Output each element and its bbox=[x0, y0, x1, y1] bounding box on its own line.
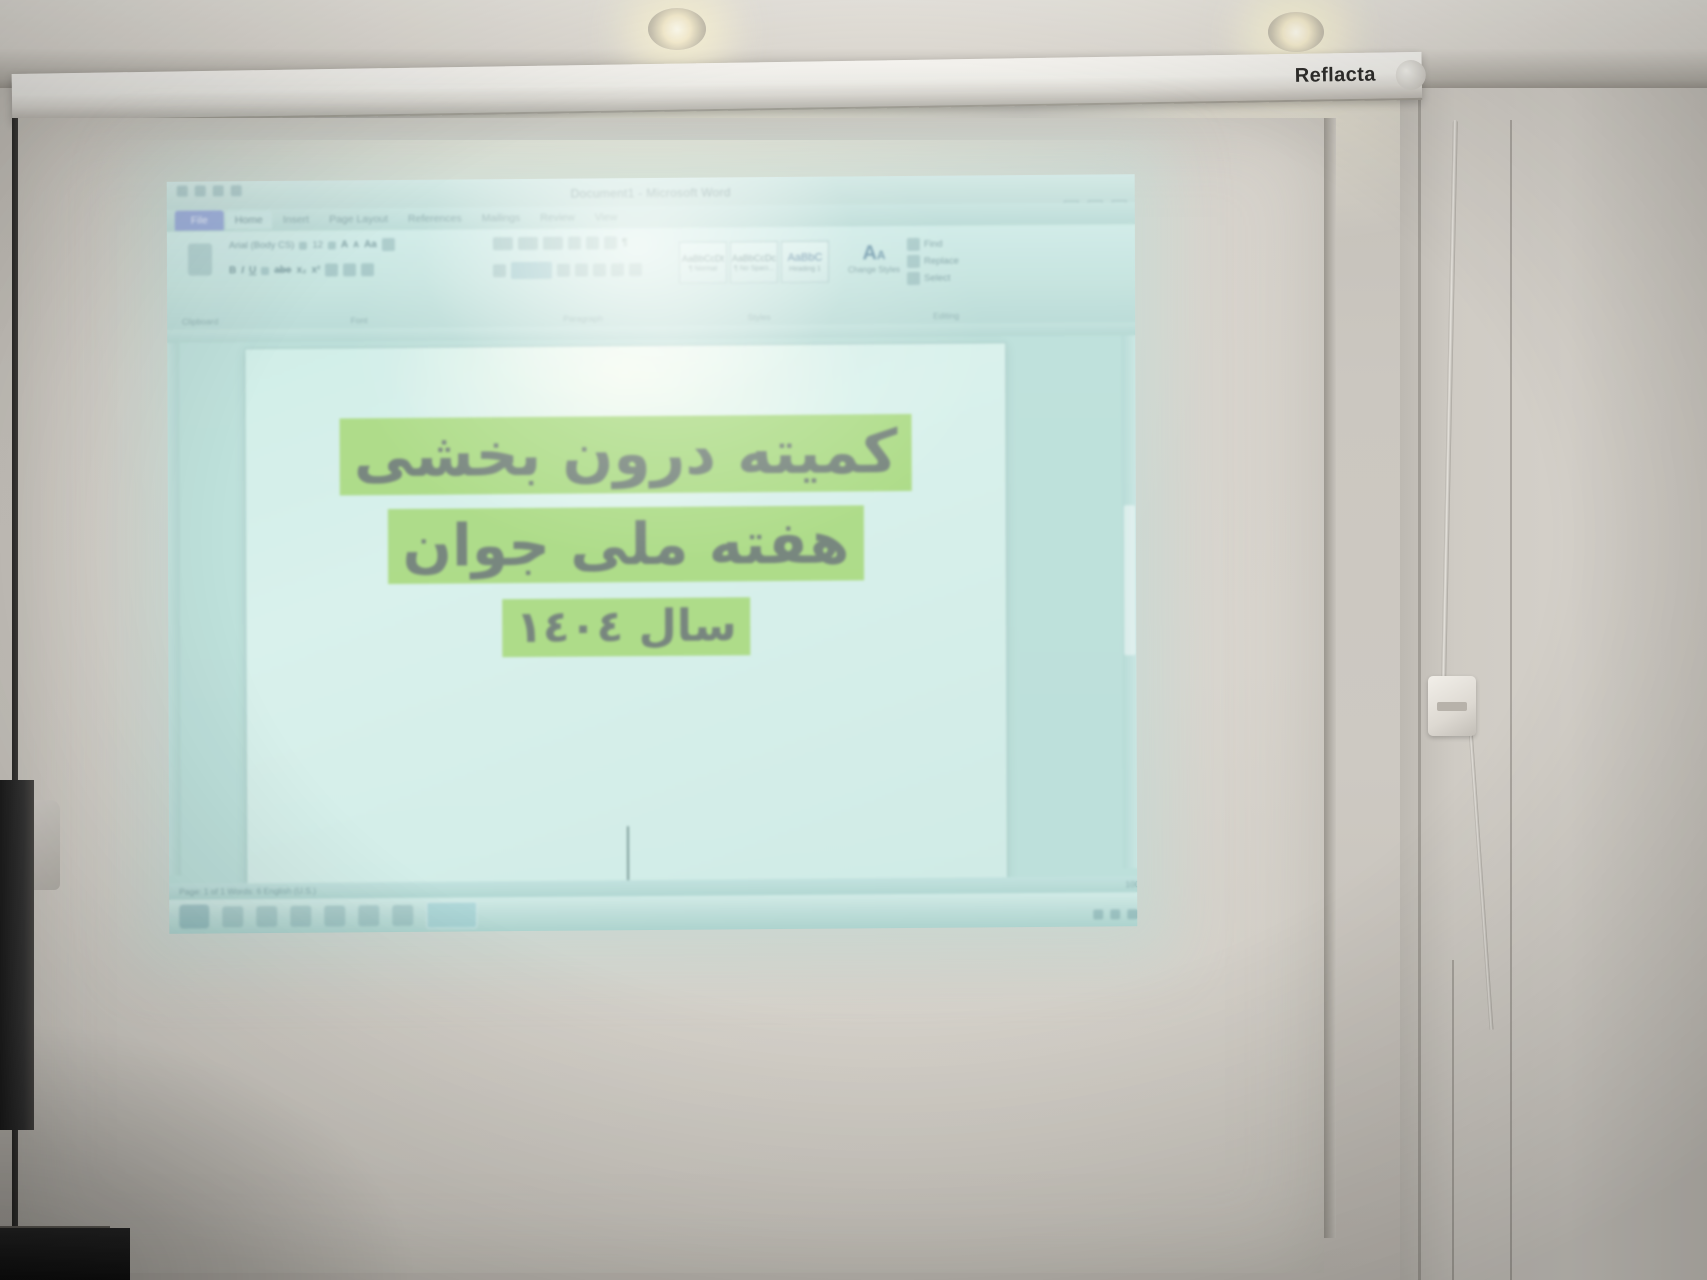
align-left-icon[interactable] bbox=[557, 264, 570, 277]
shading-icon[interactable] bbox=[611, 263, 624, 276]
ceiling-downlight-left bbox=[648, 8, 706, 50]
style-preview: AaBbC bbox=[788, 251, 823, 263]
tab-file[interactable]: File bbox=[175, 210, 224, 230]
underline-icon[interactable]: U bbox=[249, 265, 256, 276]
browser-icon[interactable] bbox=[256, 905, 277, 926]
change-styles-label: Change Styles bbox=[845, 265, 903, 274]
ribbon-group-paragraph[interactable]: ¶ Paragraph bbox=[493, 230, 673, 323]
change-styles-icon: AA bbox=[845, 242, 903, 265]
text-effects-icon[interactable] bbox=[325, 263, 338, 276]
style-normal[interactable]: AaBbCcDt ¶ Normal bbox=[679, 241, 727, 283]
customize-qat-icon[interactable] bbox=[231, 185, 242, 196]
paint-icon[interactable] bbox=[358, 905, 379, 926]
vertical-ruler[interactable] bbox=[167, 343, 181, 876]
clock-icon[interactable] bbox=[1127, 909, 1137, 919]
align-right-icon[interactable] bbox=[493, 264, 506, 277]
excel-icon[interactable] bbox=[392, 904, 413, 925]
style-no-spacing[interactable]: AaBbCcDc ¶ No Spaci... bbox=[730, 241, 778, 283]
change-case-icon[interactable]: Aa bbox=[364, 239, 377, 250]
scrollbar-thumb[interactable] bbox=[1124, 505, 1136, 655]
projected-word-window: Document1 - Microsoft Word File Home Ins… bbox=[167, 174, 1138, 934]
text-highlight-icon[interactable] bbox=[343, 263, 356, 276]
style-heading-1[interactable]: AaBbC Heading 1 bbox=[781, 241, 829, 283]
tab-review[interactable]: Review bbox=[531, 209, 583, 227]
multilevel-list-icon[interactable] bbox=[543, 237, 563, 250]
document-line-2: هفته ملی جوان bbox=[246, 504, 1006, 585]
numbering-icon[interactable] bbox=[518, 237, 538, 250]
bold-icon[interactable]: B bbox=[229, 265, 236, 276]
screen-brand-label: Reflacta bbox=[1295, 64, 1376, 88]
vertical-scrollbar[interactable] bbox=[1121, 335, 1137, 868]
change-styles-button[interactable]: AA Change Styles bbox=[845, 228, 903, 320]
document-text-body[interactable]: کمیته درون بخشی هفته ملی جوان سال ١٤٠٤ bbox=[246, 413, 1007, 663]
tab-mailings[interactable]: Mailings bbox=[473, 209, 530, 227]
strikethrough-icon[interactable]: abe bbox=[274, 265, 291, 276]
tab-insert[interactable]: Insert bbox=[274, 211, 318, 229]
find-label[interactable]: Find bbox=[924, 239, 943, 250]
status-left-text: Page: 1 of 1 Words: 6 English (U.S.) bbox=[179, 886, 316, 897]
tab-home[interactable]: Home bbox=[226, 211, 272, 229]
highlighted-text: کمیته درون بخشی bbox=[340, 414, 912, 496]
undo-icon[interactable] bbox=[195, 185, 206, 196]
word-icon[interactable] bbox=[426, 901, 477, 928]
network-icon[interactable] bbox=[1093, 909, 1103, 919]
document-line-1: کمیته درون بخشی bbox=[246, 413, 1006, 496]
redo-icon[interactable] bbox=[213, 185, 224, 196]
highlighted-text: سال ١٤٠٤ bbox=[502, 597, 751, 657]
document-page[interactable]: کمیته درون بخشی هفته ملی جوان سال ١٤٠٤ bbox=[245, 343, 1007, 889]
quick-access-toolbar[interactable] bbox=[177, 185, 242, 197]
explorer-icon[interactable] bbox=[222, 906, 243, 927]
group-label-styles: Styles bbox=[679, 312, 839, 323]
group-label-paragraph: Paragraph bbox=[493, 313, 673, 324]
align-center-icon[interactable] bbox=[511, 262, 552, 279]
ribbon-group-editing[interactable]: Find Replace Select Editing bbox=[907, 227, 985, 320]
clear-formatting-icon[interactable] bbox=[382, 238, 395, 251]
tab-view[interactable]: View bbox=[586, 208, 627, 226]
bullets-icon[interactable] bbox=[493, 237, 513, 250]
style-name: Heading 1 bbox=[789, 265, 821, 272]
select-label[interactable]: Select bbox=[924, 273, 950, 284]
casing-end-cap bbox=[1396, 60, 1426, 90]
font-name-box[interactable]: Arial (Body CS) bbox=[229, 240, 295, 252]
socket-slot bbox=[1437, 702, 1467, 711]
style-name: ¶ No Spaci... bbox=[734, 265, 774, 272]
underline-dropdown-icon[interactable] bbox=[261, 266, 269, 274]
wall-seam bbox=[1510, 120, 1512, 1280]
media-icon[interactable] bbox=[290, 905, 311, 926]
ribbon-group-font[interactable]: Arial (Body CS) 12 A A Aa B I U abe x₂ bbox=[229, 231, 489, 325]
show-marks-icon[interactable]: ¶ bbox=[622, 237, 628, 248]
document-line-3: سال ١٤٠٤ bbox=[246, 595, 1006, 659]
grow-font-icon[interactable]: A bbox=[341, 239, 348, 250]
subscript-icon[interactable]: x₂ bbox=[296, 265, 306, 276]
room-background: Reflacta Document1 - Microsoft Word File… bbox=[0, 0, 1707, 1280]
replace-icon[interactable] bbox=[907, 255, 920, 268]
wall-seam bbox=[1418, 95, 1421, 1280]
system-tray[interactable] bbox=[1093, 909, 1137, 919]
decrease-indent-icon[interactable] bbox=[568, 237, 581, 250]
window-title-text: Document1 - Microsoft Word bbox=[571, 185, 731, 200]
group-label-clipboard: Clipboard bbox=[173, 316, 227, 326]
volume-icon[interactable] bbox=[1110, 909, 1120, 919]
ribbon-group-styles[interactable]: AaBbCcDt ¶ Normal AaBbCcDc ¶ No Spaci...… bbox=[679, 229, 839, 322]
ceiling-downlight-right bbox=[1268, 12, 1324, 52]
tab-page-layout[interactable]: Page Layout bbox=[320, 210, 397, 229]
select-icon[interactable] bbox=[907, 272, 920, 285]
highlighted-text: هفته ملی جوان bbox=[388, 506, 863, 584]
ribbon-group-clipboard[interactable]: Clipboard bbox=[173, 233, 227, 325]
screen-right-edge bbox=[1324, 118, 1336, 1238]
justify-icon[interactable] bbox=[575, 263, 588, 276]
italic-icon[interactable]: I bbox=[241, 265, 244, 276]
sort-icon[interactable] bbox=[604, 236, 617, 249]
folder-icon[interactable] bbox=[324, 905, 345, 926]
zoom-level-text[interactable]: 100% bbox=[1125, 879, 1137, 889]
shrink-font-icon[interactable]: A bbox=[353, 240, 359, 249]
group-label-editing: Editing bbox=[907, 310, 985, 321]
ribbon: Clipboard Arial (Body CS) 12 A A Aa B I … bbox=[167, 224, 1135, 331]
font-name-dropdown-icon[interactable] bbox=[299, 241, 307, 249]
font-size-dropdown-icon[interactable] bbox=[328, 241, 336, 249]
font-size-box[interactable]: 12 bbox=[312, 240, 323, 251]
increase-indent-icon[interactable] bbox=[586, 236, 599, 249]
find-icon[interactable] bbox=[907, 238, 920, 251]
text-cursor bbox=[627, 826, 629, 884]
style-name: ¶ Normal bbox=[689, 265, 717, 272]
style-preview: AaBbCcDc bbox=[732, 253, 776, 263]
superscript-icon[interactable]: x² bbox=[311, 265, 320, 276]
replace-label[interactable]: Replace bbox=[924, 256, 959, 267]
line-spacing-icon[interactable] bbox=[593, 263, 606, 276]
wall-seam bbox=[1452, 960, 1454, 1280]
corner-shadow bbox=[0, 1020, 420, 1280]
style-preview: AaBbCcDt bbox=[682, 253, 724, 263]
group-label-font: Font bbox=[229, 314, 489, 326]
start-button[interactable] bbox=[179, 904, 209, 928]
save-icon[interactable] bbox=[177, 186, 188, 197]
borders-icon[interactable] bbox=[629, 263, 642, 276]
font-color-icon[interactable] bbox=[361, 263, 374, 276]
tab-references[interactable]: References bbox=[399, 209, 471, 228]
paste-icon[interactable] bbox=[188, 243, 212, 275]
wall-socket bbox=[1428, 676, 1476, 736]
